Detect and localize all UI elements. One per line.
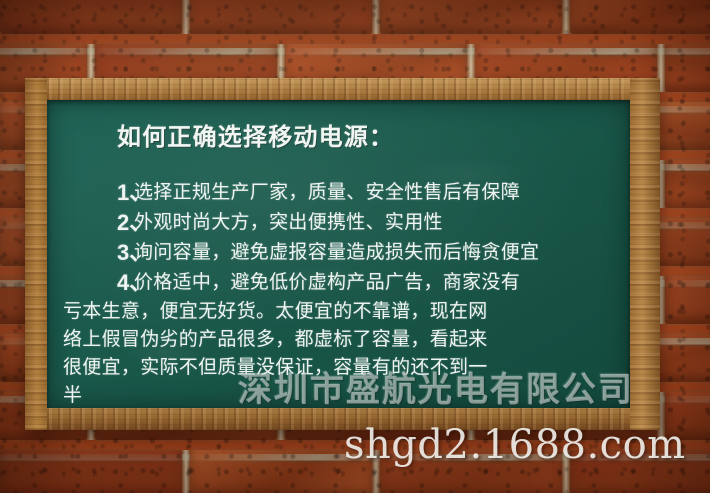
list-item-wrapped-line: 很便宜，实际不但质量没保证，容量有的还不到一 <box>63 354 624 382</box>
list-item-text: 选择正规生产厂家，质量、安全性售后有保障 <box>134 178 520 208</box>
list-item: 4、 价格适中，避免低价虚构产品广告，商家没有 亏本生意，便宜无好货。太便宜的不… <box>117 268 624 408</box>
frame-top-rail <box>25 78 660 100</box>
frame-right-stile <box>630 78 660 430</box>
list-item: 2、 外观时尚大方，突出便携性、实用性 <box>117 208 624 238</box>
board-title: 如何正确选择移动电源： <box>117 122 624 152</box>
list-item-number: 4、 <box>117 268 134 298</box>
chalkboard-surface: 如何正确选择移动电源： 1、 选择正规生产厂家，质量、安全性售后有保障 2、 外… <box>47 100 630 408</box>
list-item-number: 2、 <box>117 208 134 238</box>
list-item: 3、 询问容量，避免虚报容量造成损失而后悔贪便宜 <box>117 238 624 268</box>
list-item-first-line: 4、 价格适中，避免低价虚构产品广告，商家没有 <box>117 268 624 298</box>
frame-bottom-rail <box>25 408 660 430</box>
list-item-wrapped-line: 亏本生意，便宜无好货。太便宜的不靠谱，现在网 <box>63 298 624 326</box>
list-item: 1、 选择正规生产厂家，质量、安全性售后有保障 <box>117 178 624 208</box>
list-item-number: 3、 <box>117 238 134 268</box>
frame-left-stile <box>25 78 47 430</box>
board-item-list: 1、 选择正规生产厂家，质量、安全性售后有保障 2、 外观时尚大方，突出便携性、… <box>117 178 624 408</box>
list-item-text: 询问容量，避免虚报容量造成损失而后悔贪便宜 <box>134 238 539 268</box>
list-item-text: 外观时尚大方，突出便携性、实用性 <box>134 208 443 238</box>
list-item-wrapped-line: 半 <box>63 382 624 408</box>
list-item-wrapped-line: 络上假冒伪劣的产品很多，都虚标了容量，看起来 <box>63 326 624 354</box>
image-canvas: 如何正确选择移动电源： 1、 选择正规生产厂家，质量、安全性售后有保障 2、 外… <box>0 0 710 493</box>
framed-chalkboard: 如何正确选择移动电源： 1、 选择正规生产厂家，质量、安全性售后有保障 2、 外… <box>25 78 660 430</box>
list-item-number: 1、 <box>117 178 134 208</box>
list-item-text: 价格适中，避免低价虚构产品广告，商家没有 <box>134 268 520 298</box>
board-content: 如何正确选择移动电源： 1、 选择正规生产厂家，质量、安全性售后有保障 2、 外… <box>117 122 624 408</box>
